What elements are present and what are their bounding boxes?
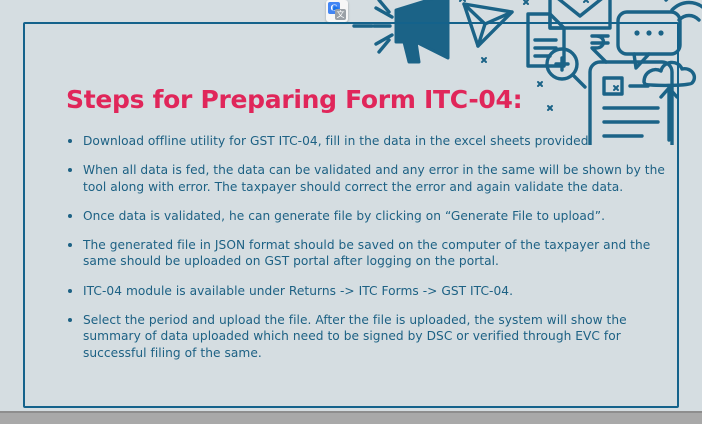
list-item-text: Select the period and upload the file. A…	[83, 313, 627, 360]
bottom-bar	[0, 411, 702, 424]
bullet-icon	[68, 318, 72, 322]
list-item-text: ITC-04 module is available under Returns…	[83, 284, 513, 298]
translate-target-badge: 文	[335, 9, 346, 20]
list-item: ITC-04 module is available under Returns…	[66, 283, 676, 299]
list-item-text: Once data is validated, he can generate …	[83, 209, 605, 223]
page-title: Steps for Preparing Form ITC-04:	[66, 85, 676, 114]
list-item: Download offline utility for GST ITC-04,…	[66, 133, 676, 149]
list-item-text: When all data is fed, the data can be va…	[83, 163, 665, 193]
bullet-icon	[68, 214, 72, 218]
steps-list: Download offline utility for GST ITC-04,…	[66, 133, 676, 361]
bullet-icon	[68, 243, 72, 247]
bullet-icon	[68, 139, 72, 143]
list-item: The generated file in JSON format should…	[66, 237, 676, 270]
list-item-text: The generated file in JSON format should…	[83, 238, 650, 268]
bottom-bar-divider	[0, 411, 702, 413]
bullet-icon	[68, 168, 72, 172]
google-translate-icon[interactable]: G 文	[326, 0, 348, 22]
wifi-icon	[666, 0, 702, 20]
slide-canvas: G 文 Steps for Preparing Form ITC-04: Dow…	[0, 0, 702, 424]
slide-content: Steps for Preparing Form ITC-04: Downloa…	[66, 85, 676, 361]
bullet-icon	[68, 289, 72, 293]
list-item: Select the period and upload the file. A…	[66, 312, 676, 361]
list-item: Once data is validated, he can generate …	[66, 208, 676, 224]
list-item-text: Download offline utility for GST ITC-04,…	[83, 134, 592, 148]
list-item: When all data is fed, the data can be va…	[66, 162, 676, 195]
